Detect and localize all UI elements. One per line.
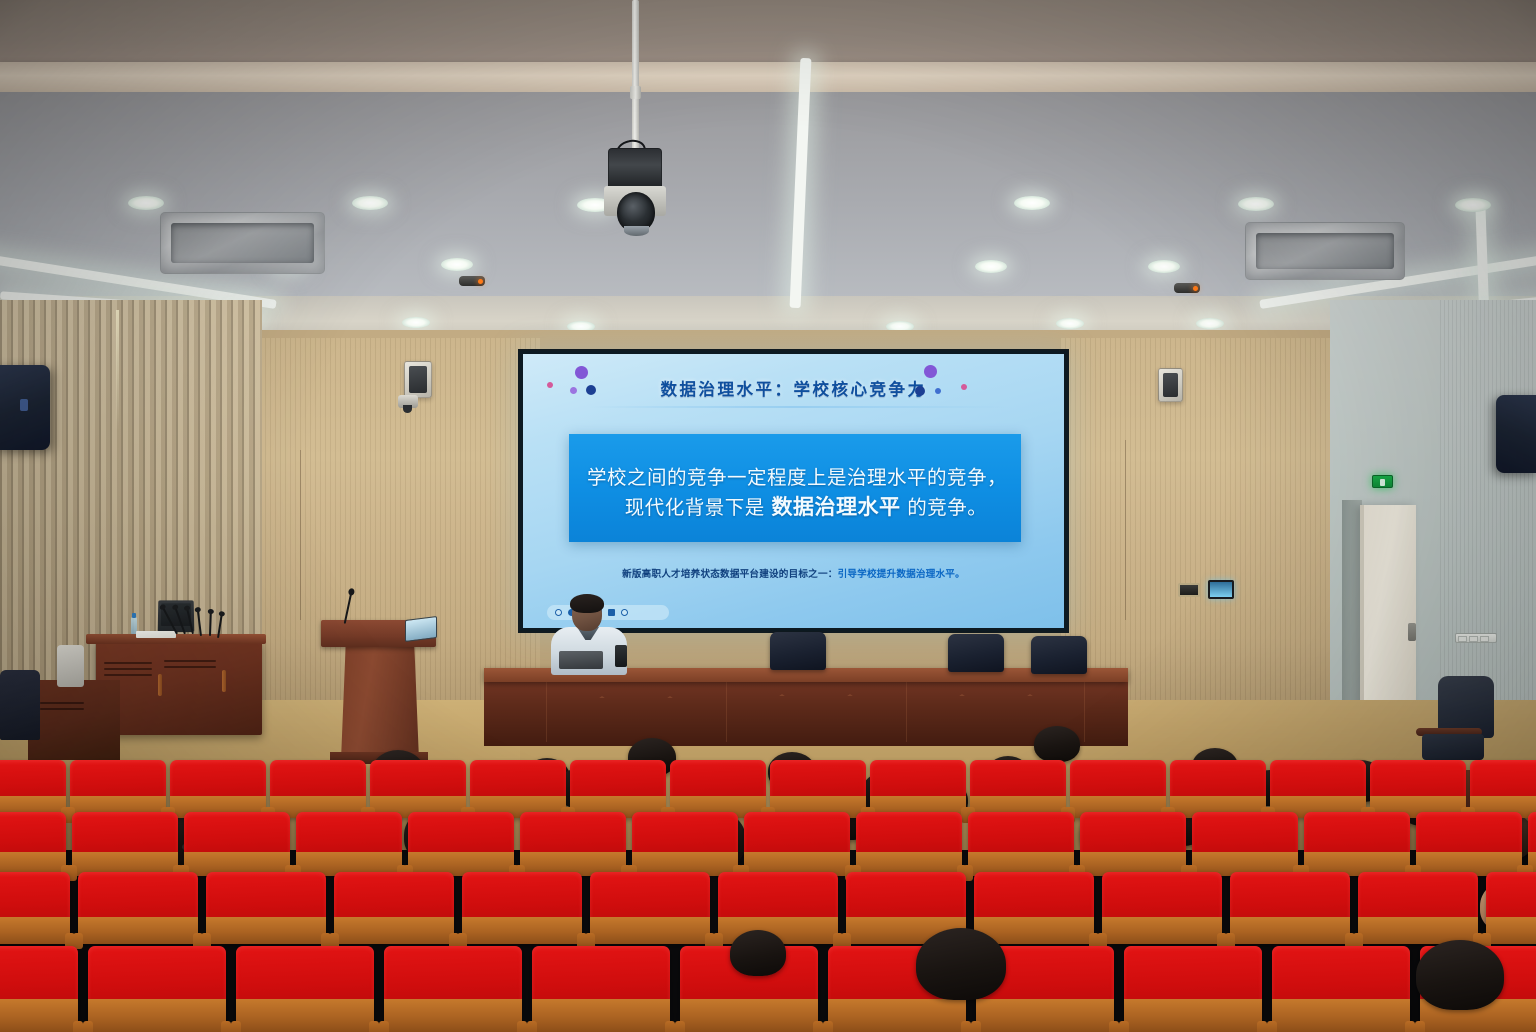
auditorium-scene: 数据治理水平：学校核心竞争力 学校之间的竞争一定程度上是治理水平的竞争， 现代化… (0, 0, 1536, 1032)
audience-people-front (0, 0, 1536, 1032)
attendee-head (916, 928, 1006, 1000)
attendee-head (730, 930, 786, 976)
attendee-head (1416, 940, 1504, 1010)
